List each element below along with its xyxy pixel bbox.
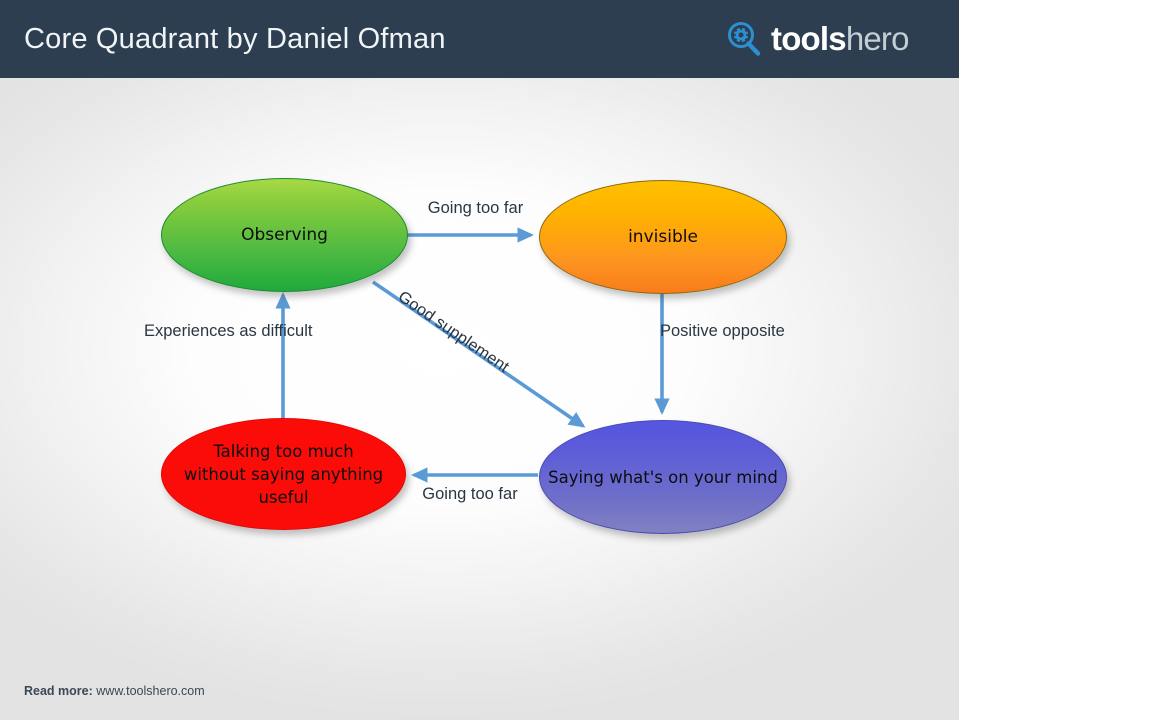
edge-label-core-to-pitfall: Going too far — [408, 197, 543, 220]
node-challenge[interactable]: Saying what's on your mind — [539, 420, 787, 534]
footer-read-more: Read more: www.toolshero.com — [24, 683, 205, 699]
node-allergy-label: Talking too much without saying anything… — [180, 440, 387, 509]
edge-label-allergy-to-core: Experiences as difficult — [144, 320, 292, 343]
footer-url[interactable]: www.toolshero.com — [96, 684, 204, 698]
node-pitfall-label: invisible — [628, 227, 698, 247]
node-challenge-label: Saying what's on your mind — [548, 466, 778, 489]
slide: Core Quadrant by Daniel Ofman — [0, 0, 959, 720]
node-allergy[interactable]: Talking too much without saying anything… — [161, 418, 406, 530]
node-core-quality-label: Observing — [241, 225, 328, 245]
node-pitfall[interactable]: invisible — [539, 180, 787, 294]
edge-label-challenge-to-allergy: Going too far — [397, 483, 543, 506]
footer-prefix: Read more: — [24, 684, 93, 698]
node-core-quality[interactable]: Observing — [161, 178, 408, 292]
edge-label-pitfall-to-challenge: Positive opposite — [660, 320, 764, 343]
